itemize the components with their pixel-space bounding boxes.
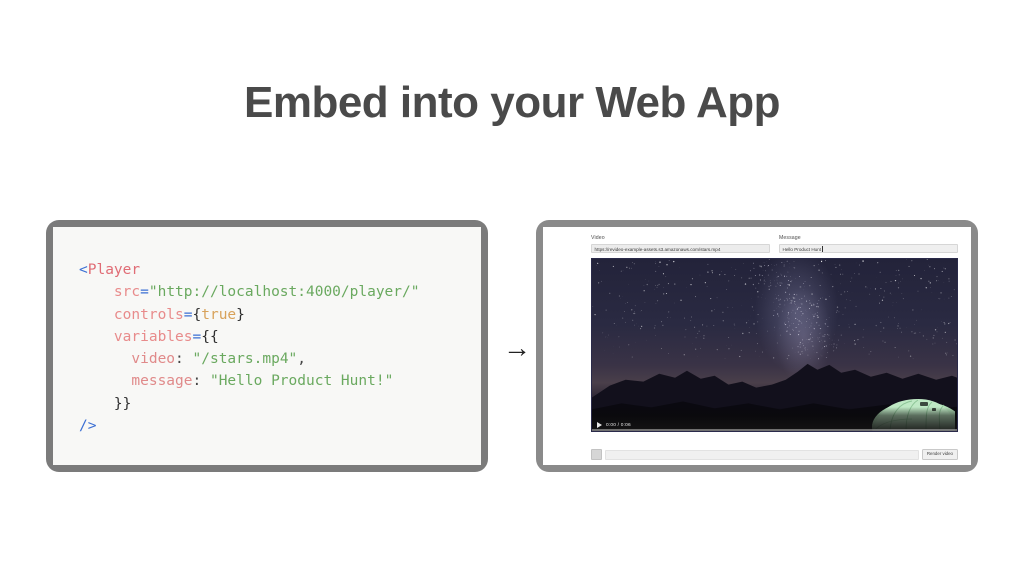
code-token-attr: src <box>114 284 140 300</box>
render-thumbnail-icon <box>591 449 602 460</box>
right-arrow-icon: → <box>497 330 537 366</box>
code-editor-surface: <Player src="http://localhost:4000/playe… <box>53 227 481 465</box>
app-preview-frame: Video https://revideo-example-assets.s3.… <box>536 220 978 472</box>
message-field-label: Message <box>779 235 958 241</box>
code-token-eq: = <box>193 329 202 345</box>
form-row: Video https://revideo-example-assets.s3.… <box>591 235 958 253</box>
field-group-message: Message Hello Product Hunt <box>779 235 958 253</box>
video-url-input[interactable]: https://revideo-example-assets.s3.amazon… <box>591 244 770 254</box>
code-token-brace: { <box>193 307 202 323</box>
render-bar: Render video <box>591 449 958 460</box>
render-video-button[interactable]: Render video <box>922 449 958 459</box>
video-controls-bar[interactable]: 0:00 / 0:06 <box>592 407 957 431</box>
video-time-display: 0:00 / 0:06 <box>606 423 631 428</box>
code-token-colon: , <box>297 351 306 367</box>
code-token-str: "http://localhost:4000/player/" <box>149 284 420 300</box>
code-token-eq: = <box>184 307 193 323</box>
code-token-eq: = <box>140 284 149 300</box>
code-token-punc: < <box>79 262 88 278</box>
video-player[interactable]: 0:00 / 0:06 <box>591 258 958 432</box>
code-token-str: "Hello Product Hunt!" <box>210 373 393 389</box>
message-text-input[interactable]: Hello Product Hunt <box>779 244 958 254</box>
text-caret <box>822 246 823 252</box>
code-token-key: message <box>131 373 192 389</box>
code-token-str: "/stars.mp4" <box>193 351 298 367</box>
code-token-brace: }} <box>114 396 131 412</box>
app-preview-surface: Video https://revideo-example-assets.s3.… <box>543 227 971 465</box>
code-panel-frame: <Player src="http://localhost:4000/playe… <box>46 220 488 472</box>
code-token-brace: {{ <box>201 329 218 345</box>
code-token-colon: : <box>193 373 210 389</box>
video-scrub-bar[interactable] <box>592 429 957 431</box>
code-token-colon: : <box>175 351 192 367</box>
render-progress-bar <box>605 450 919 460</box>
code-token-bool: true <box>201 307 236 323</box>
message-input-value: Hello Product Hunt <box>783 247 822 252</box>
code-token-punc: /> <box>79 418 96 434</box>
code-token-tag: Player <box>88 262 140 278</box>
code-token-attr: variables <box>114 329 193 345</box>
code-token-brace: } <box>236 307 245 323</box>
video-field-label: Video <box>591 235 770 241</box>
play-icon[interactable] <box>597 422 602 428</box>
field-group-video: Video https://revideo-example-assets.s3.… <box>591 235 770 253</box>
page-title: Embed into your Web App <box>0 77 1024 130</box>
code-snippet: <Player src="http://localhost:4000/playe… <box>79 259 481 437</box>
code-token-attr: controls <box>114 307 184 323</box>
code-token-key: video <box>131 351 175 367</box>
